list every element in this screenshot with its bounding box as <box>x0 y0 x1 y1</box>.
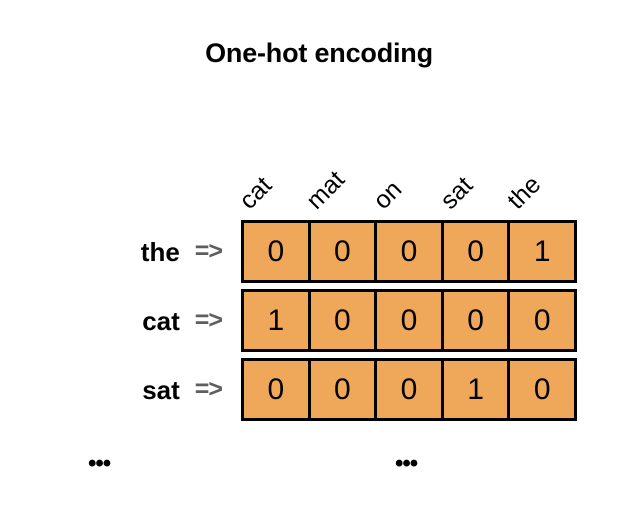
matrix-cell: 1 <box>510 223 574 280</box>
matrix-cell: 0 <box>377 223 444 280</box>
row-label-word: sat <box>142 377 180 403</box>
matrix-cell: 0 <box>377 292 444 349</box>
row-label-sat: sat => <box>0 358 236 421</box>
maps-to-arrow-icon: => <box>195 377 222 402</box>
matrix-cell: 0 <box>311 223 378 280</box>
maps-to-arrow-icon: => <box>195 308 222 333</box>
matrix-continuation-ellipsis: ••• <box>395 452 417 476</box>
row-label-word: cat <box>142 308 180 334</box>
matrix-cell: 0 <box>244 361 311 418</box>
row-label-cat: cat => <box>0 289 236 352</box>
one-hot-matrix: 0 0 0 0 1 1 0 0 0 0 0 0 0 1 0 <box>241 220 577 427</box>
maps-to-arrow-icon: => <box>195 239 222 264</box>
matrix-row: 1 0 0 0 0 <box>241 289 577 352</box>
matrix-cell: 1 <box>244 292 311 349</box>
column-header-label: sat <box>436 173 477 214</box>
matrix-cell: 0 <box>510 292 574 349</box>
matrix-cell: 0 <box>311 361 378 418</box>
page-title: One-hot encoding <box>0 38 638 69</box>
matrix-row: 0 0 0 0 1 <box>241 220 577 283</box>
matrix-cell: 0 <box>311 292 378 349</box>
matrix-row: 0 0 0 1 0 <box>241 358 577 421</box>
matrix-cell: 0 <box>510 361 574 418</box>
row-continuation-ellipsis: ••• <box>88 452 110 476</box>
matrix-cell: 0 <box>444 223 511 280</box>
column-header-label: cat <box>235 173 276 214</box>
row-label-word: the <box>141 239 180 265</box>
row-label-the: the => <box>0 220 236 283</box>
matrix-cell: 0 <box>444 292 511 349</box>
matrix-cell: 0 <box>244 223 311 280</box>
matrix-cell: 1 <box>444 361 511 418</box>
column-header-label: on <box>369 177 406 214</box>
one-hot-encoding-figure: One-hot encoding cat mat on sat the the … <box>0 0 638 522</box>
column-header-label: the <box>503 172 545 214</box>
matrix-cell: 0 <box>377 361 444 418</box>
column-header-label: mat <box>302 167 349 214</box>
